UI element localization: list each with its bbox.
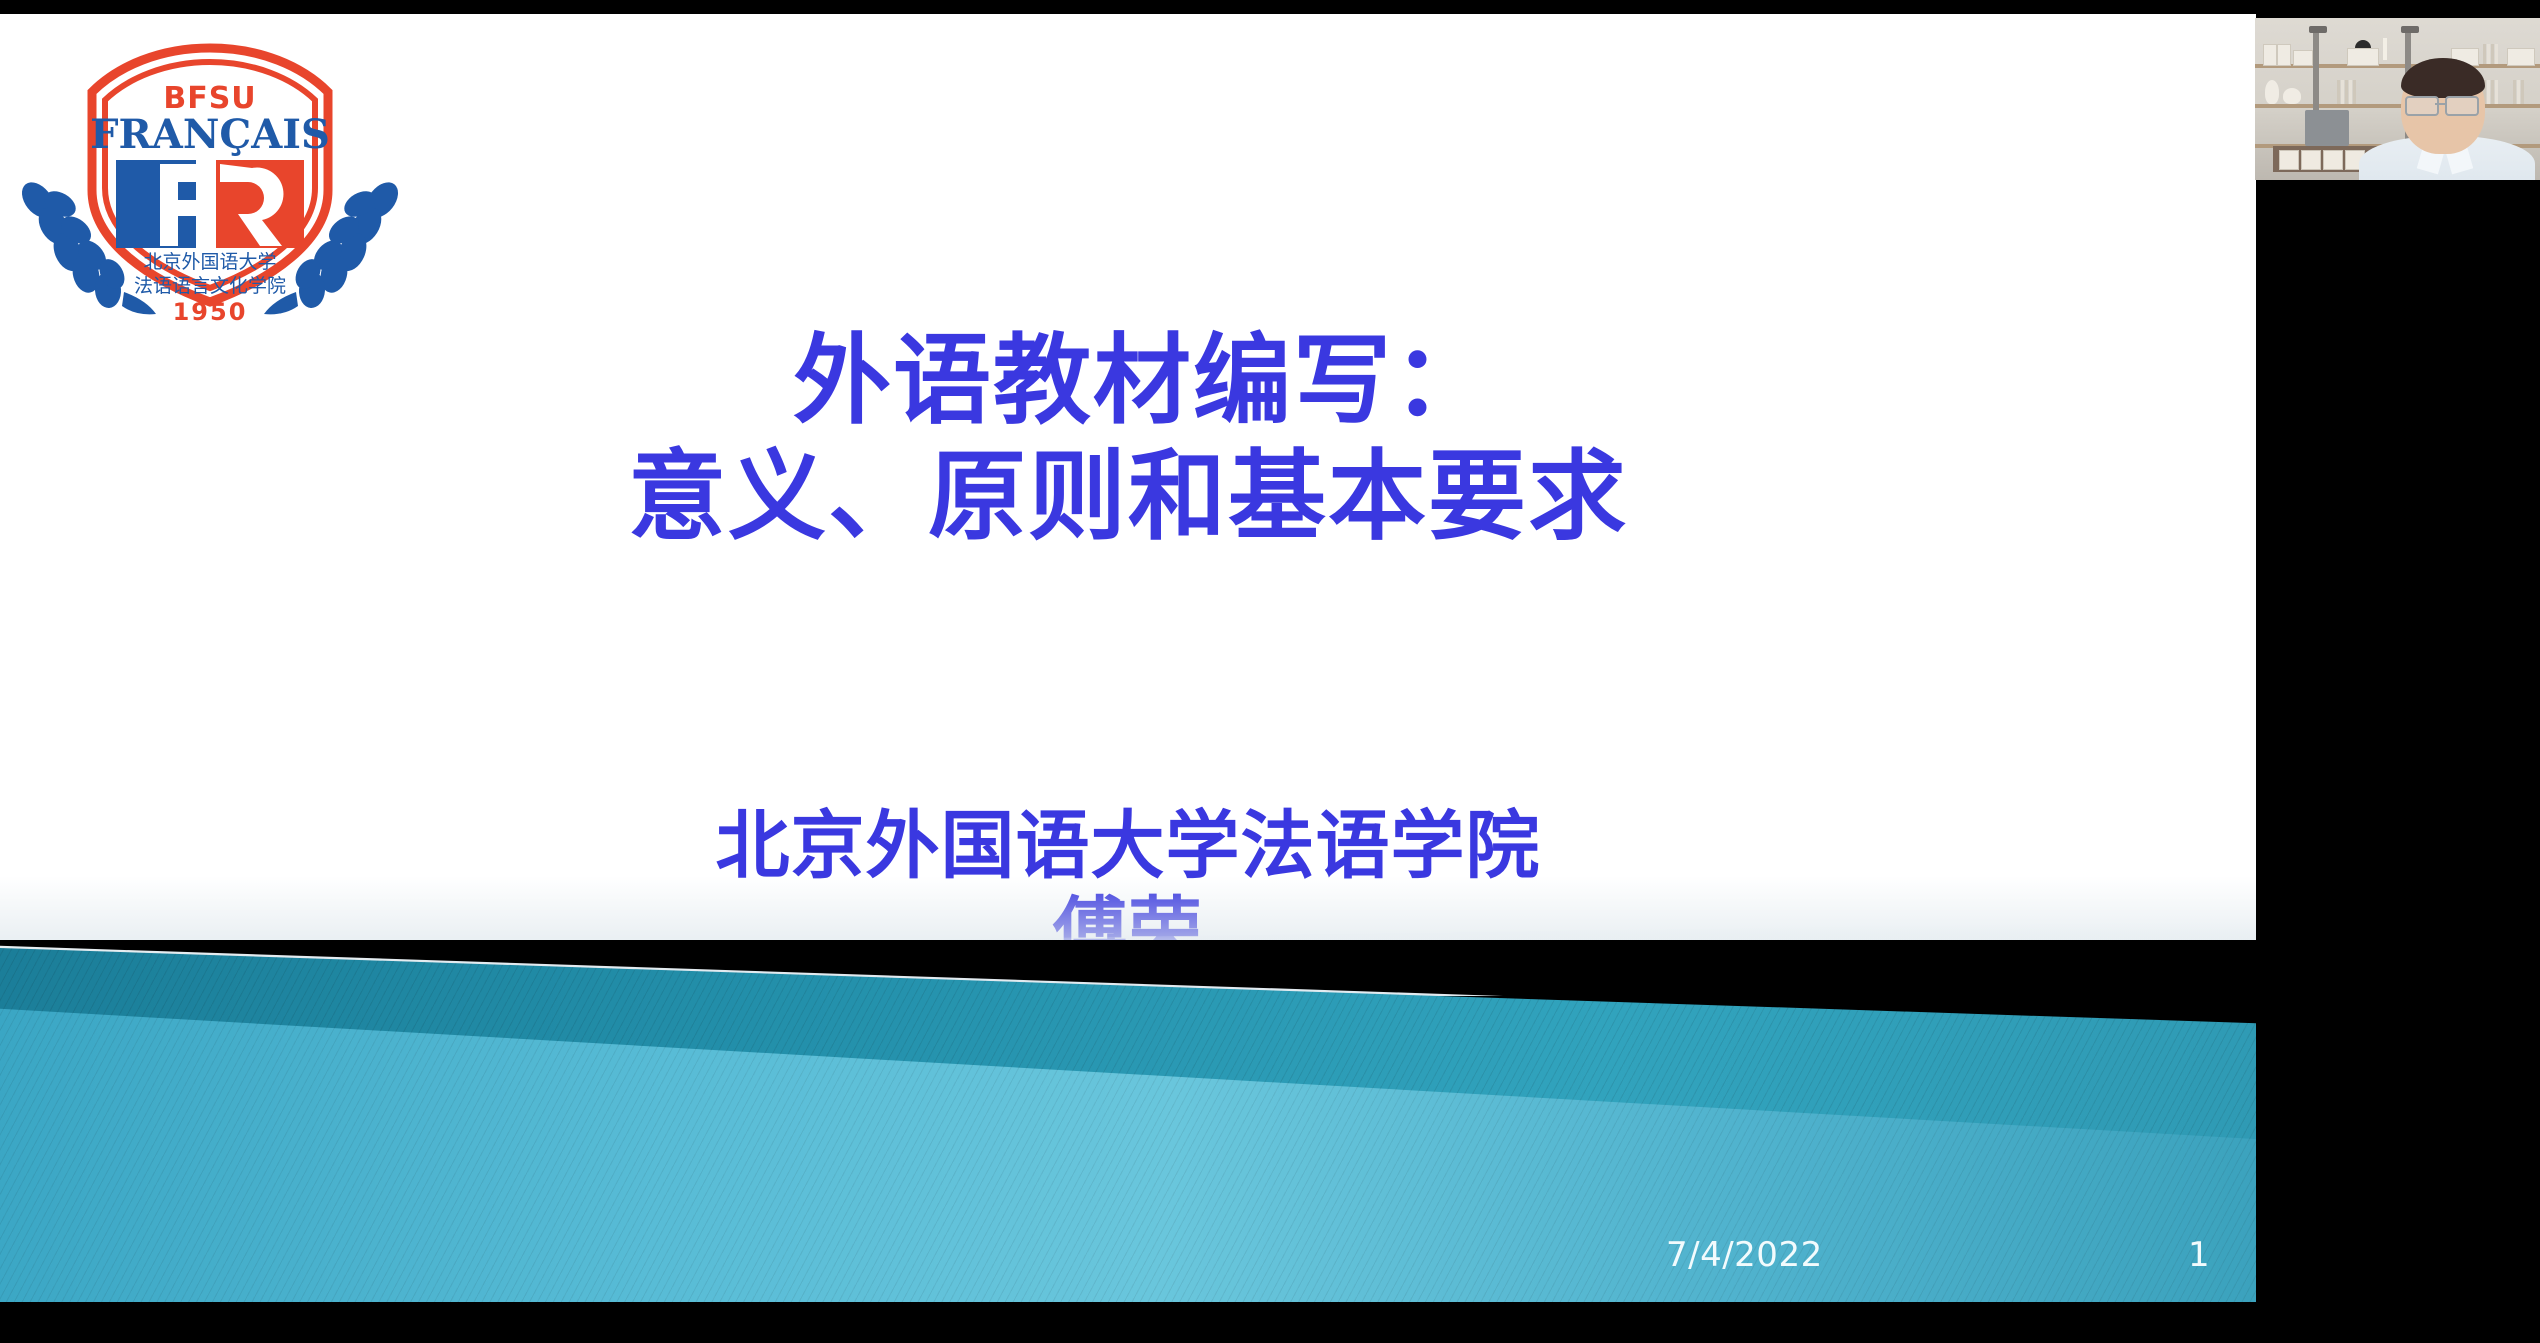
- svg-text:1950: 1950: [173, 298, 248, 326]
- svg-text:北京外国语大学: 北京外国语大学: [143, 251, 276, 273]
- shelf-box: [2293, 50, 2313, 66]
- presenter-video-feed[interactable]: [2255, 18, 2540, 180]
- bookshelf-shelf: [2255, 104, 2540, 108]
- shelf-book: [2491, 80, 2494, 104]
- cabinet-box: [2323, 150, 2343, 170]
- shelf-vase: [2283, 88, 2301, 104]
- shelf-box: [2347, 48, 2379, 66]
- slide-subtitle: 北京外国语大学法语学院 傅荣: [0, 804, 2256, 976]
- slide-title-line-1: 外语教材编写：: [0, 324, 2256, 440]
- shelf-box: [2277, 44, 2291, 66]
- shelf-post-cap: [2401, 26, 2419, 33]
- shelf-book: [2483, 44, 2486, 64]
- shelf-book: [2345, 80, 2348, 104]
- shelf-vase: [2265, 80, 2279, 104]
- cabinet-box: [2279, 150, 2299, 170]
- shelf-book: [2341, 80, 2344, 104]
- shelf-book: [2487, 44, 2490, 64]
- slide-subtitle-author: 傅荣: [0, 890, 2256, 976]
- presentation-slide[interactable]: BFSU FRANÇAIS 北京外国语大学 法语语言文化学院 1950 外语教材…: [0, 14, 2256, 996]
- shelf-post-cap: [2309, 26, 2327, 33]
- slide-title: 外语教材编写： 意义、原则和基本要求: [0, 324, 2256, 555]
- slide-footer-date: 7/4/2022: [1666, 1235, 1823, 1275]
- shelf-book: [2521, 80, 2524, 104]
- shelf-book: [2349, 80, 2352, 104]
- slide-title-line-2: 意义、原则和基本要求: [0, 440, 2256, 556]
- shelf-candle: [2383, 38, 2387, 60]
- shelf-book: [2517, 80, 2520, 104]
- glasses-lens-right: [2445, 96, 2479, 116]
- slide-footer-page-number: 1: [2188, 1235, 2210, 1275]
- screen-canvas: BFSU FRANÇAIS 北京外国语大学 法语语言文化学院 1950 外语教材…: [0, 0, 2540, 1343]
- shelf-book: [2487, 80, 2490, 104]
- slide-subtitle-affiliation: 北京外国语大学法语学院: [0, 804, 2256, 890]
- svg-text:法语语言文化学院: 法语语言文化学院: [134, 275, 286, 297]
- shelf-box: [2507, 48, 2535, 66]
- shelf-monitor: [2305, 110, 2349, 146]
- bfsu-francais-logo: BFSU FRANÇAIS 北京外国语大学 法语语言文化学院 1950: [10, 30, 410, 330]
- shelf-book: [2513, 80, 2516, 104]
- shelf-book: [2491, 44, 2494, 64]
- shelf-book: [2337, 80, 2340, 104]
- shelf-book: [2495, 44, 2498, 64]
- shelf-box: [2263, 44, 2277, 66]
- shelf-book: [2353, 80, 2356, 104]
- shelf-book: [2495, 80, 2498, 104]
- cabinet-box: [2301, 150, 2321, 170]
- svg-text:FRANÇAIS: FRANÇAIS: [90, 111, 330, 158]
- glasses-lens-left: [2405, 96, 2439, 116]
- presenter-glasses: [2405, 96, 2481, 112]
